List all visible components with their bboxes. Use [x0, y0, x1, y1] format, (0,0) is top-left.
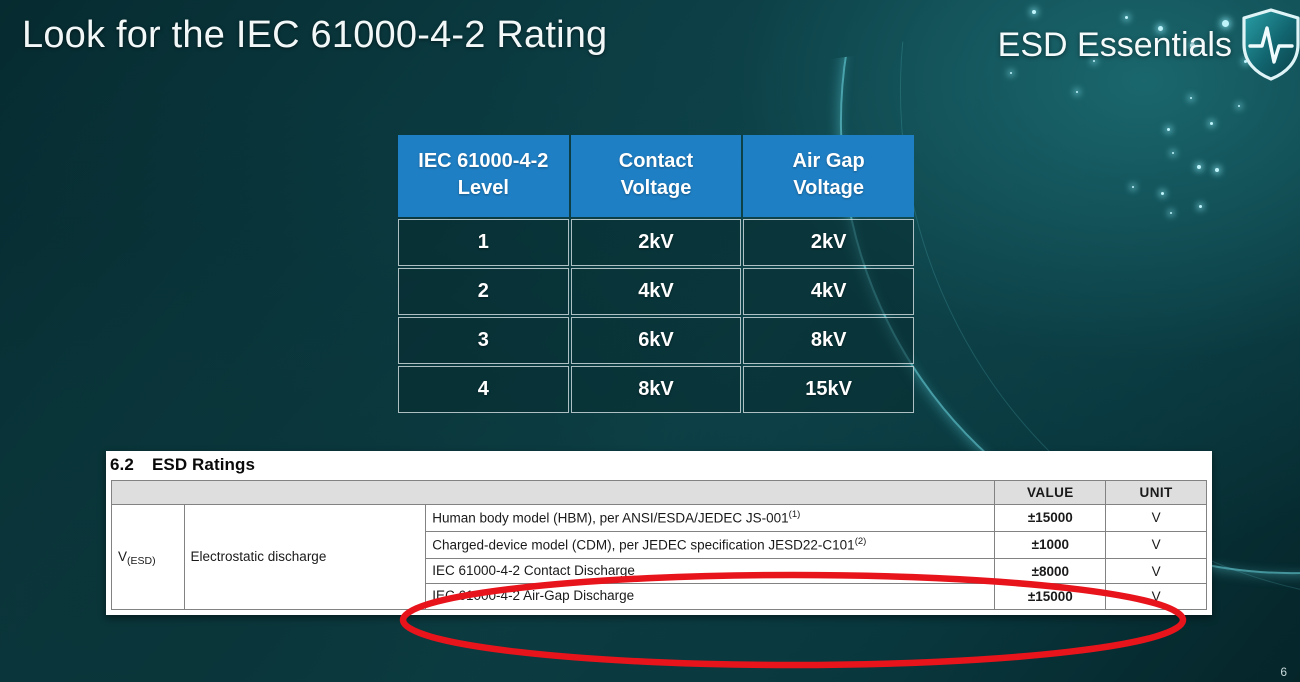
cell-value: ±15000	[995, 505, 1106, 532]
column-header-value: VALUE	[995, 481, 1106, 505]
particle-dot	[1132, 186, 1134, 188]
column-header-air-gap-voltage: Air Gap Voltage	[743, 135, 914, 217]
table-row: V(ESD) Electrostatic discharge Human bod…	[112, 505, 1207, 532]
cell-air-gap-voltage: 8kV	[743, 317, 914, 364]
particle-dot	[1210, 122, 1213, 125]
cell-unit: V	[1106, 558, 1207, 583]
table-header-row: IEC 61000-4-2 Level Contact Voltage Air …	[398, 135, 914, 217]
cell-contact-voltage: 6kV	[571, 317, 742, 364]
cell-unit: V	[1106, 584, 1207, 609]
cell-air-gap-voltage: 4kV	[743, 268, 914, 315]
particle-dot	[1199, 205, 1202, 208]
cell-level: 4	[398, 366, 569, 413]
particle-dot	[1161, 192, 1164, 195]
cell-air-gap-voltage: 15kV	[743, 366, 914, 413]
cell-unit: V	[1106, 505, 1207, 532]
particle-dot	[1167, 128, 1170, 131]
cell-condition: IEC 61000-4-2 Contact Discharge	[426, 558, 995, 583]
slide-canvas: Look for the IEC 61000-4-2 Rating ESD Es…	[0, 0, 1300, 682]
cell-symbol: V(ESD)	[112, 505, 185, 610]
page-number: 6	[1280, 665, 1287, 679]
page-title: Look for the IEC 61000-4-2 Rating	[22, 14, 607, 57]
column-header-blank	[112, 481, 995, 505]
particle-dot	[1190, 97, 1192, 99]
particle-dot	[1076, 91, 1078, 93]
table-row: 1 2kV 2kV	[398, 219, 914, 266]
section-title: ESD Ratings	[152, 455, 255, 474]
cell-contact-voltage: 8kV	[571, 366, 742, 413]
particle-dot	[1172, 152, 1174, 154]
cell-condition: Charged-device model (CDM), per JEDEC sp…	[426, 531, 995, 558]
particle-dot	[1238, 105, 1240, 107]
cell-contact-voltage: 2kV	[571, 219, 742, 266]
datasheet-section-heading: 6.2ESD Ratings	[106, 451, 1212, 480]
cell-value: ±8000	[995, 558, 1106, 583]
iec-level-table: IEC 61000-4-2 Level Contact Voltage Air …	[396, 133, 916, 415]
shield-heartbeat-icon	[1240, 8, 1300, 82]
cell-condition: IEC 61000-4-2 Air-Gap Discharge	[426, 584, 995, 609]
esd-ratings-table: VALUE UNIT V(ESD) Electrostatic discharg…	[111, 480, 1207, 610]
column-header-level: IEC 61000-4-2 Level	[398, 135, 569, 217]
brand-lockup: ESD Essentials	[998, 8, 1290, 82]
cell-parameter: Electrostatic discharge	[184, 505, 426, 610]
cell-value: ±15000	[995, 584, 1106, 609]
section-number: 6.2	[110, 455, 134, 474]
brand-text: ESD Essentials	[998, 26, 1232, 65]
cell-contact-voltage: 4kV	[571, 268, 742, 315]
table-header-row: VALUE UNIT	[112, 481, 1207, 505]
cell-condition: Human body model (HBM), per ANSI/ESDA/JE…	[426, 505, 995, 532]
table-row: 3 6kV 8kV	[398, 317, 914, 364]
particle-dot	[1215, 168, 1219, 172]
column-header-contact-voltage: Contact Voltage	[571, 135, 742, 217]
cell-level: 1	[398, 219, 569, 266]
cell-unit: V	[1106, 531, 1207, 558]
cell-level: 2	[398, 268, 569, 315]
cell-level: 3	[398, 317, 569, 364]
cell-air-gap-voltage: 2kV	[743, 219, 914, 266]
particle-dot	[1197, 165, 1201, 169]
column-header-unit: UNIT	[1106, 481, 1207, 505]
table-row: 4 8kV 15kV	[398, 366, 914, 413]
table-row: 2 4kV 4kV	[398, 268, 914, 315]
particle-dot	[1170, 212, 1172, 214]
datasheet-excerpt: 6.2ESD Ratings VALUE UNIT	[106, 451, 1212, 615]
cell-value: ±1000	[995, 531, 1106, 558]
